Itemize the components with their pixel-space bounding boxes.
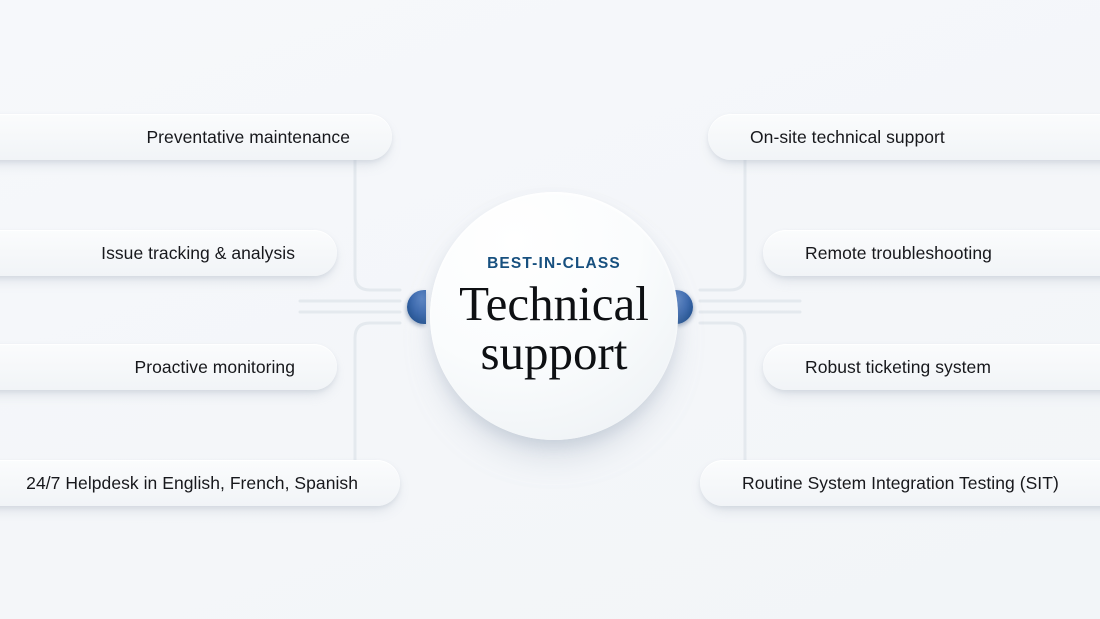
hub-title: Technical support (459, 280, 649, 377)
branch-pill-left-4[interactable]: 24/7 Helpdesk in English, French, Spanis… (0, 460, 400, 506)
branch-label: 24/7 Helpdesk in English, French, Spanis… (26, 473, 358, 494)
hub-title-line-2: support (459, 329, 649, 378)
branch-label: Proactive monitoring (134, 357, 295, 378)
hub-kicker: BEST-IN-CLASS (487, 255, 621, 273)
branch-label: On-site technical support (750, 127, 945, 148)
branch-label: Remote troubleshooting (805, 243, 992, 264)
branch-pill-right-1[interactable]: On-site technical support (708, 114, 1100, 160)
branch-pill-left-1[interactable]: Preventative maintenance (0, 114, 392, 160)
branch-label: Routine System Integration Testing (SIT) (742, 473, 1059, 494)
hub-title-line-1: Technical (459, 280, 649, 329)
wire-left-1 (355, 160, 400, 290)
branch-label: Robust ticketing system (805, 357, 991, 378)
wire-right-1 (700, 160, 745, 290)
branch-pill-left-3[interactable]: Proactive monitoring (0, 344, 337, 390)
mindmap-canvas: Preventative maintenance Issue tracking … (0, 0, 1100, 619)
branch-pill-right-4[interactable]: Routine System Integration Testing (SIT) (700, 460, 1100, 506)
center-hub: BEST-IN-CLASS Technical support (430, 192, 678, 440)
branch-label: Preventative maintenance (146, 127, 350, 148)
branch-label: Issue tracking & analysis (101, 243, 295, 264)
branch-pill-right-3[interactable]: Robust ticketing system (763, 344, 1100, 390)
branch-pill-left-2[interactable]: Issue tracking & analysis (0, 230, 337, 276)
branch-pill-right-2[interactable]: Remote troubleshooting (763, 230, 1100, 276)
